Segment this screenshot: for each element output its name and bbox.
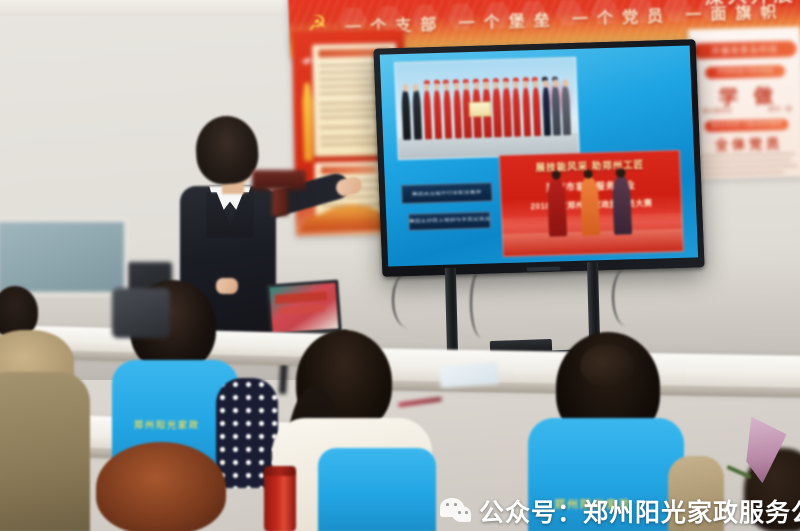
- attendee-coat-body: [0, 372, 90, 531]
- slide-bullet-2: 集团主办员工培训与学员交流活动: [408, 212, 491, 231]
- slide-photo-ceremony: 展技能风采 助郑州工匠 郑州市家政服务行业 2018年度郑州市家政服务员大赛: [499, 150, 685, 257]
- wooden-podium: [252, 170, 306, 190]
- poster-pill-2-label: 面向全体党员 开展的经常性教育: [704, 119, 788, 132]
- poster-pill-1-label: 学党章党规 学系列讲话: [705, 65, 785, 79]
- slide-photo-group: [394, 57, 580, 160]
- poster-ribbon: 开展背景及时间: [692, 41, 796, 60]
- laptop-screen[interactable]: [266, 280, 341, 337]
- right-wall-poster: 开展背景及时间 学党章党规 学系列讲话 学做 做合格党员 两学一做 面向全体党员…: [688, 27, 800, 180]
- watermark-text: 公众号：郑州阳光家政服务公司: [479, 493, 800, 529]
- chair-back: [112, 288, 170, 338]
- slide-certificate: [469, 102, 491, 117]
- tv-stand-column-right: [587, 262, 600, 340]
- paper-on-desk: [439, 362, 498, 388]
- thermos-lid: [264, 466, 296, 476]
- laptop-slide-view: [269, 283, 338, 333]
- slide-bullet-1: 集团关注提升行业职业素养: [400, 183, 493, 205]
- attendee-vest-2-text: 郑州阳光家政: [134, 418, 200, 431]
- red-thermos: [264, 470, 296, 531]
- poster-pill-1: 学党章党规 学系列讲话: [705, 65, 785, 79]
- presentation-slide: 展技能风采 助郑州工匠 郑州市家政服务行业 2018年度郑州市家政服务员大赛 集…: [380, 45, 698, 266]
- banner-right-text: 深入开展: [704, 0, 797, 10]
- attendee-bun-5: [580, 344, 634, 388]
- tv-display[interactable]: 展技能风采 助郑州工匠 郑州市家政服务行业 2018年度郑州市家政服务员大赛 集…: [373, 39, 704, 276]
- wechat-icon: [440, 498, 470, 524]
- poster-sub-left: 做合格党员: [702, 106, 732, 115]
- attendee-head-4: [96, 442, 226, 531]
- poster-pill-2: 面向全体党员 开展的经常性教育: [704, 119, 788, 132]
- tv-cable-mid: [470, 268, 494, 338]
- attendee-vest-3: [318, 448, 436, 531]
- tv-cable-left: [392, 272, 424, 328]
- watermark: 公众号：郑州阳光家政服务公司: [440, 492, 800, 530]
- poster-heading-2: 全体党员: [691, 133, 800, 155]
- slide-bullet-1-label: 集团关注提升行业职业素养: [402, 190, 492, 198]
- presenter-hand-holding: [216, 278, 238, 294]
- photo-scene: ☭ 一个支部 一个堡垒 一个党员 一面旗帜 深入开展: [0, 0, 800, 531]
- slide-bullet-2-label: 集团主办员工培训与学员交流活动: [409, 217, 490, 225]
- podium-stem: [272, 188, 288, 216]
- poster-sub-right: 两学一做: [768, 105, 792, 114]
- window-frame: [0, 218, 128, 296]
- tv-cable-right: [612, 268, 640, 326]
- poster-ribbon-label: 开展背景及时间: [692, 41, 796, 60]
